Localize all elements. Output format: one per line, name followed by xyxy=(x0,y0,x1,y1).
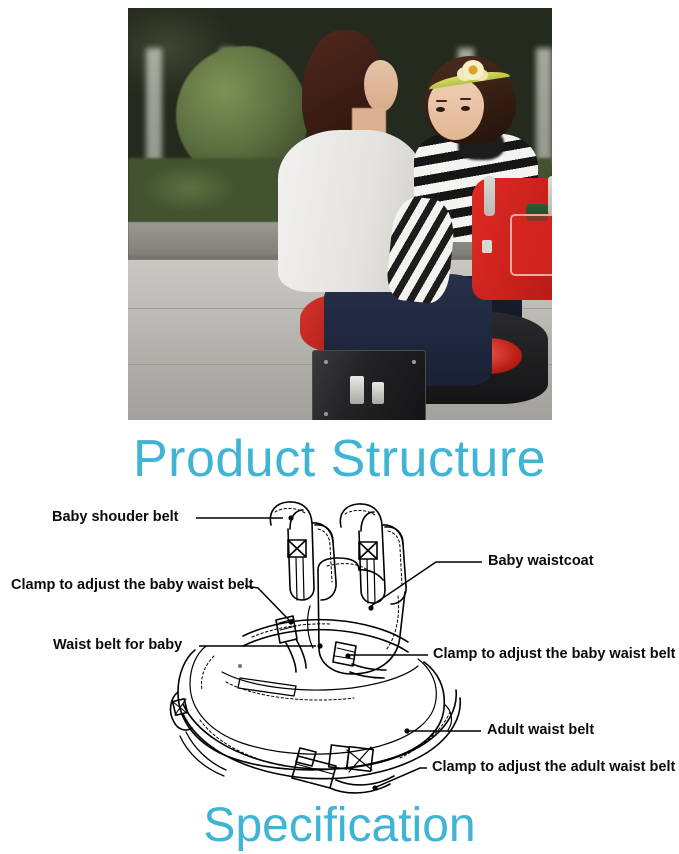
label-baby-waistcoat: Baby waistcoat xyxy=(488,553,594,570)
label-clamp-adult-waist-belt: Clamp to adjust the adult waist belt xyxy=(432,759,675,776)
photo-sky-gap xyxy=(146,48,162,168)
photo-pannier-rivet xyxy=(412,360,416,364)
photo-vest-shoulder-strap xyxy=(484,176,495,216)
leader-dot-baby-shoulder-belt xyxy=(288,515,293,520)
leader-dot-baby-waistcoat xyxy=(368,605,373,610)
photo-child-eye xyxy=(436,107,445,112)
page-title: Product Structure xyxy=(0,428,679,490)
leader-dot-clamp-adult xyxy=(372,785,377,790)
photo-vest-tab xyxy=(482,240,492,253)
photo-motorcycle-pannier-left xyxy=(312,350,426,420)
label-clamp-baby-waist-belt-left: Clamp to adjust the baby waist belt xyxy=(11,577,254,594)
photo-pannier-rivet xyxy=(324,360,328,364)
photo-child-flower-clip xyxy=(462,60,484,80)
product-hero-photo xyxy=(128,8,552,420)
product-structure-diagram: Baby shouder belt Clamp to adjust the ba… xyxy=(0,496,679,796)
photo-child-eyebrow xyxy=(460,98,471,100)
leader-dot-clamp-baby-left xyxy=(288,619,293,624)
leader-dot-adult-waist-belt xyxy=(404,728,409,733)
photo-sky-gap xyxy=(536,48,552,168)
label-clamp-baby-waist-belt-right: Clamp to adjust the baby waist belt xyxy=(433,646,676,663)
label-adult-waist-belt: Adult waist belt xyxy=(487,722,594,739)
label-waist-belt-for-baby: Waist belt for baby xyxy=(53,637,182,654)
photo-vest-pocket xyxy=(510,214,552,276)
photo-pannier-latch xyxy=(350,376,364,404)
photo-pannier-latch xyxy=(372,382,384,404)
label-baby-shoulder-belt: Baby shouder belt xyxy=(52,509,179,526)
leader-dot-clamp-baby-right xyxy=(345,653,350,658)
photo-child-eye xyxy=(461,106,470,111)
photo-child-eyebrow xyxy=(436,100,447,102)
next-section-title: Specification xyxy=(0,798,679,854)
leader-dot-waist-belt-baby xyxy=(317,643,322,648)
photo-pannier-rivet xyxy=(324,412,328,416)
photo-vest-shoulder-strap xyxy=(548,176,552,216)
